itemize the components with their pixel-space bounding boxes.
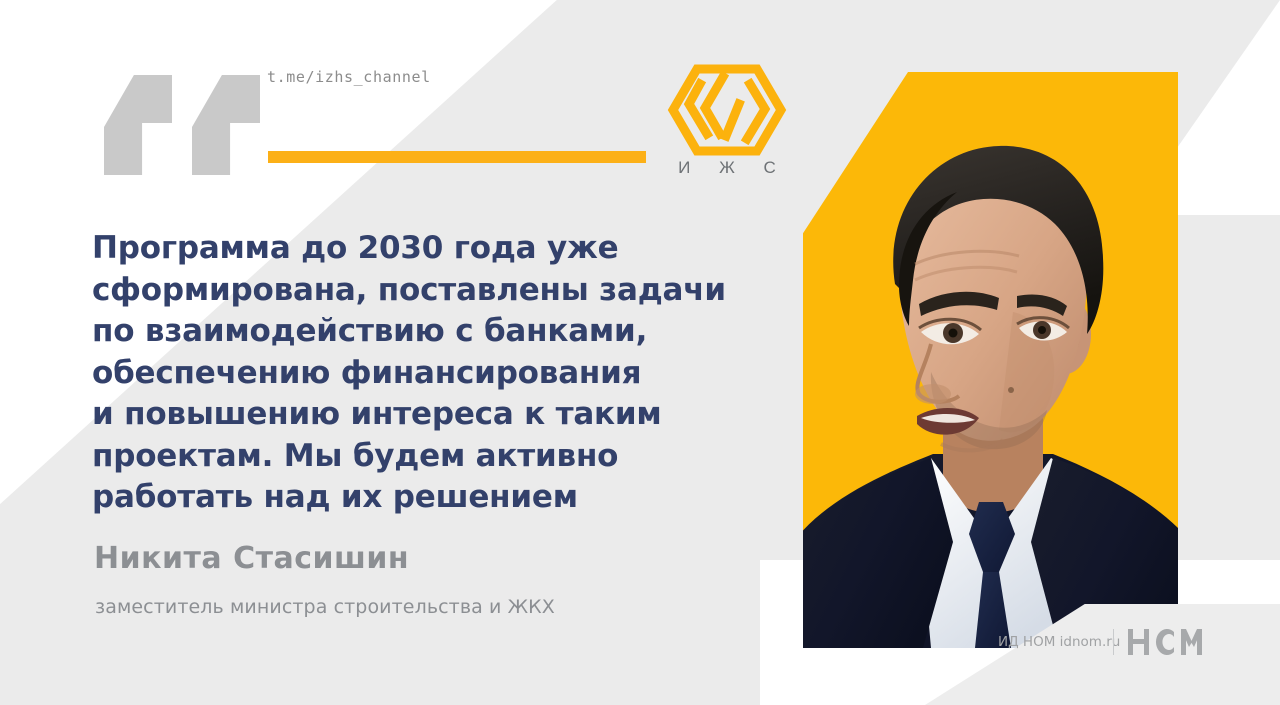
- yellow-divider-rule: [268, 151, 646, 163]
- quote-open-icon: [104, 75, 260, 175]
- quote-mark-left-icon: [104, 75, 172, 175]
- author-name: Никита Стасишин: [94, 541, 409, 576]
- nom-logo-icon: [1128, 628, 1202, 656]
- quote-mark-right-icon: [192, 75, 260, 175]
- quote-card: t.me/izhs_channel И Ж С: [0, 0, 1280, 705]
- portrait-photo: [803, 72, 1178, 648]
- quote-line: по взаимодействию с банками,: [92, 311, 752, 353]
- footer-credit[interactable]: ИД НОМ idnom.ru: [998, 634, 1120, 650]
- quote-text: Программа до 2030 года уже сформирована,…: [92, 228, 752, 519]
- footer-separator: [1113, 629, 1114, 655]
- quote-line: проектам. Мы будем активно: [92, 436, 752, 478]
- quote-line: обеспечению финансирования: [92, 353, 752, 395]
- izhs-hexagon-logo-icon: И Ж С: [653, 62, 801, 182]
- portrait-photo-panel: [803, 72, 1178, 648]
- channel-url[interactable]: t.me/izhs_channel: [267, 68, 431, 86]
- author-role: заместитель министра строительства и ЖКХ: [95, 596, 555, 618]
- quote-line: работать над их решением: [92, 477, 752, 519]
- quote-line: сформирована, поставлены задачи: [92, 270, 752, 312]
- quote-line: и повышению интереса к таким: [92, 394, 752, 436]
- quote-line: Программа до 2030 года уже: [92, 228, 752, 270]
- izhs-logo-letters: И Ж С: [653, 158, 801, 178]
